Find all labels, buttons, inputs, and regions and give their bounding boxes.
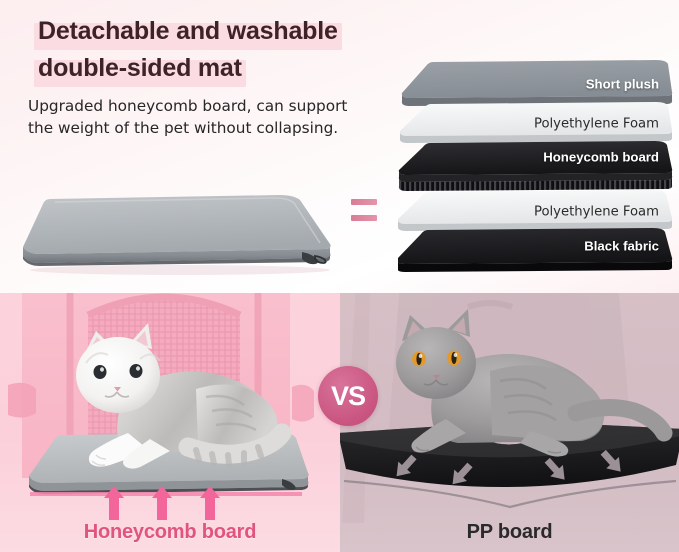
- caption-honeycomb-board: Honeycomb board: [0, 521, 340, 544]
- comparison-panel-honeycomb: Honeycomb board: [0, 293, 340, 552]
- layer-label: Honeycomb board: [543, 149, 659, 164]
- layer-label: Black fabric: [584, 239, 659, 254]
- product-infographic: Detachable and washable double-sided mat…: [0, 0, 679, 552]
- layer-label: Polyethylene Foam: [534, 205, 659, 220]
- headline-line-1-text: Detachable and washable: [38, 17, 338, 45]
- top-section: Detachable and washable double-sided mat…: [0, 0, 679, 293]
- grey-mat-photo: [10, 186, 340, 276]
- subtext-line-2: the weight of the pet without collapsing…: [28, 118, 388, 140]
- subtext-line-1: Upgraded honeycomb board, can support: [28, 96, 388, 118]
- layer-label: Short plush: [586, 77, 659, 92]
- caption-pp-board: PP board: [340, 521, 679, 544]
- headline-line-2: double-sided mat: [34, 53, 246, 85]
- headline-line-1: Detachable and washable: [34, 16, 342, 48]
- honeycomb-scene: [0, 293, 340, 552]
- layer-black-fabric: Black fabric: [398, 226, 673, 274]
- material-layer-diagram: Short plush Polyethylene Foam: [398, 58, 673, 270]
- headline: Detachable and washable double-sided mat: [34, 16, 424, 90]
- equals-sign: [351, 199, 377, 223]
- headline-line-2-text: double-sided mat: [38, 54, 242, 82]
- comparison-panel-pp-board: PP board: [340, 293, 679, 552]
- vs-badge: VS: [318, 366, 378, 426]
- vs-label: VS: [331, 383, 365, 410]
- subtext: Upgraded honeycomb board, can support th…: [28, 96, 388, 139]
- pp-board-scene: [340, 293, 679, 552]
- layer-label: Polyethylene Foam: [534, 117, 659, 132]
